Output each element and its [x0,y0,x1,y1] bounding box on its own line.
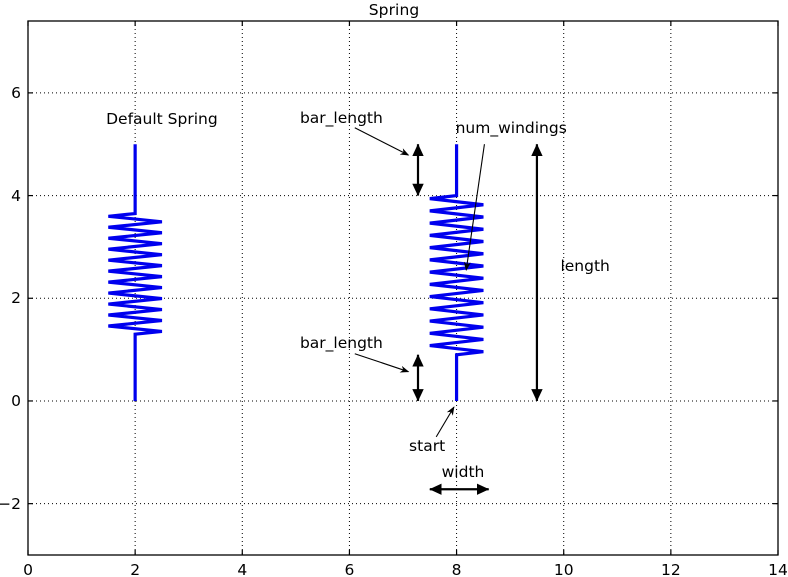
grid-lines [28,21,778,555]
spring-figure: Spring 02468101214−20246 Default Springb… [0,0,788,577]
bar-length-bottom-arrow [355,354,409,372]
springs [108,144,483,401]
y-tick-label: 2 [11,289,21,307]
x-tick-label: 12 [661,561,681,577]
plot-canvas [0,0,788,577]
length-label: length [560,257,609,275]
bar-length-top: bar_length [300,109,383,127]
x-tick-label: 6 [344,561,354,577]
spring-path-0 [108,144,162,401]
spring-path-1 [430,144,484,401]
y-tick-label: 6 [11,84,21,102]
x-tick-label: 2 [130,561,140,577]
bar-length-top-arrow [355,128,409,155]
start-label: start [409,437,445,455]
axes-box [28,21,778,555]
y-tick-label: 4 [11,187,21,205]
y-tick-label: 0 [11,392,21,410]
x-tick-label: 8 [452,561,462,577]
y-tick-label: −2 [0,495,21,513]
width-label: width [442,463,485,481]
bar-length-bottom: bar_length [300,334,383,352]
start-label-arrow [436,407,454,437]
num-windings: num_windings [456,119,567,137]
axes-spines [28,21,778,555]
annotation-arrows [355,128,485,437]
x-tick-label: 10 [554,561,574,577]
x-tick-label: 0 [23,561,33,577]
x-tick-label: 4 [237,561,247,577]
default-spring-label: Default Spring [106,110,218,128]
x-tick-label: 14 [768,561,788,577]
